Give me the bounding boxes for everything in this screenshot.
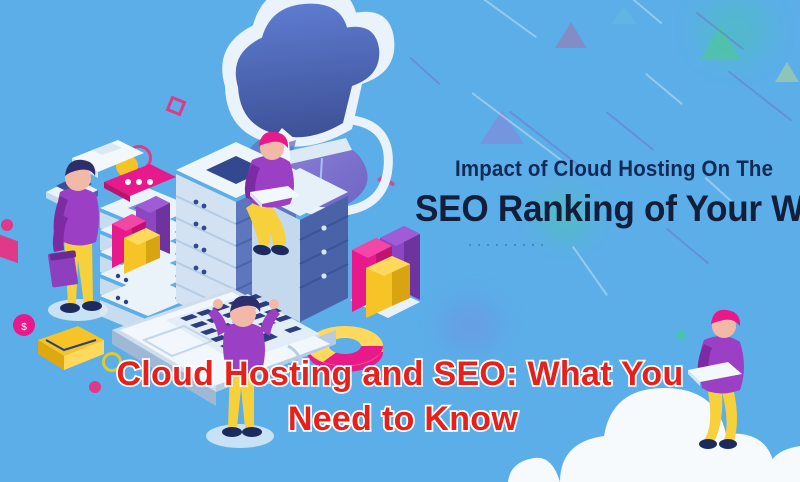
overlay-title-line-2: Need to Know <box>0 397 800 442</box>
headline-line-2: SEO Ranking of Your Websi <box>415 188 800 230</box>
coin-icon: $ <box>13 314 35 336</box>
headline-line-1: Impact of Cloud Hosting On The <box>455 156 773 182</box>
overlay-title-line-1: Cloud Hosting and SEO: What You <box>0 352 800 397</box>
svg-text:$: $ <box>21 322 27 333</box>
person-standing-with-bag <box>48 160 102 313</box>
bar-chart <box>350 226 420 318</box>
banner-image: ✕ <box>0 0 800 482</box>
overlay-title: Cloud Hosting and SEO: What You Need to … <box>0 352 800 442</box>
